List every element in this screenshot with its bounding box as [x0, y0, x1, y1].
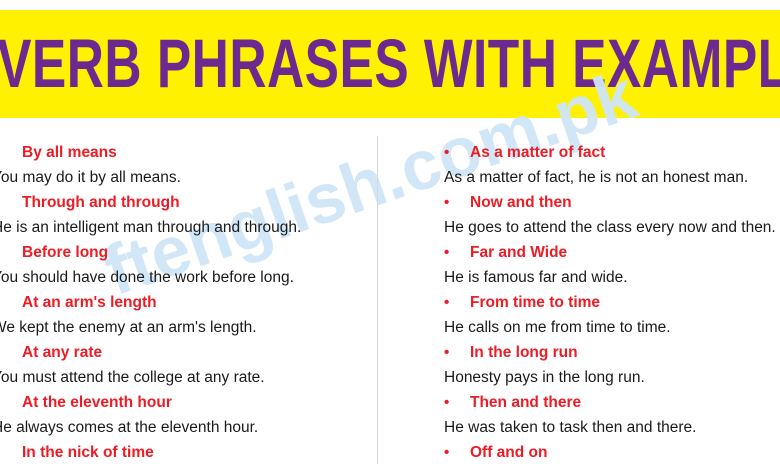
bullet-icon: •	[444, 390, 470, 415]
phrase-label: As a matter of fact	[470, 140, 605, 165]
right-column-spacer	[444, 118, 780, 140]
bullet-icon: •	[444, 440, 470, 465]
phrase-label: Far and Wide	[470, 240, 567, 265]
phrase-heading: •From time to time	[444, 290, 780, 315]
phrase-label: In the long run	[470, 340, 578, 365]
phrase-entry: In the nick of timeHe came in the nick o…	[0, 440, 372, 470]
phrase-label: Off and on	[470, 440, 548, 465]
phrase-heading: •As a matter of fact	[444, 140, 780, 165]
phrase-heading: •Off and on	[444, 440, 780, 465]
phrase-heading: At the eleventh hour	[0, 390, 372, 415]
example-sentence: You should have done the work before lon…	[0, 265, 372, 290]
example-sentence: You may do it by all means.	[0, 165, 372, 190]
phrase-label: Before long	[22, 240, 108, 265]
phrase-label: Then and there	[470, 390, 581, 415]
phrase-heading: •Now and then	[444, 190, 780, 215]
phrase-entry: •As a matter of factAs a matter of fact,…	[444, 140, 780, 190]
phrase-label: By all means	[22, 140, 117, 165]
bullet-icon: •	[444, 240, 470, 265]
example-sentence: We kept the enemy at an arm's length.	[0, 315, 372, 340]
phrase-entry: •Far and WideHe is famous far and wide.	[444, 240, 780, 290]
phrase-entry: At any rateYou must attend the college a…	[0, 340, 372, 390]
example-sentence: As a matter of fact, he is not an honest…	[444, 165, 780, 190]
phrase-label: In the nick of time	[22, 440, 154, 465]
phrase-label: At any rate	[22, 340, 102, 365]
phrase-heading: At any rate	[0, 340, 372, 365]
left-column: By all meansYou may do it by all means.T…	[0, 118, 372, 470]
phrase-heading: •Then and there	[444, 390, 780, 415]
example-sentence: He always comes at the eleventh hour.	[0, 415, 372, 440]
bullet-icon: •	[444, 290, 470, 315]
example-sentence: You must attend the college at any rate.	[0, 365, 372, 390]
phrase-entry: Before longYou should have done the work…	[0, 240, 372, 290]
phrase-entry: •From time to timeHe calls on me from ti…	[444, 290, 780, 340]
right-column: •As a matter of factAs a matter of fact,…	[444, 118, 780, 470]
example-sentence: He is famous far and wide.	[444, 265, 780, 290]
page-title: ADVERB PHRASES WITH EXAMPLES	[0, 29, 780, 100]
example-sentence: He came in the nick of time.	[0, 465, 372, 470]
phrase-heading: By all means	[0, 140, 372, 165]
phrase-entry: •Now and thenHe goes to attend the class…	[444, 190, 780, 240]
phrase-heading: Through and through	[0, 190, 372, 215]
phrase-entry: By all meansYou may do it by all means.	[0, 140, 372, 190]
phrase-label: At the eleventh hour	[22, 390, 172, 415]
bullet-icon: •	[444, 190, 470, 215]
left-column-spacer	[0, 118, 372, 140]
phrase-heading: Before long	[0, 240, 372, 265]
phrase-entry: •Then and thereHe was taken to task then…	[444, 390, 780, 440]
column-divider	[377, 136, 378, 464]
phrase-heading: •Far and Wide	[444, 240, 780, 265]
phrase-label: Now and then	[470, 190, 572, 215]
content-columns: By all meansYou may do it by all means.T…	[0, 118, 780, 470]
phrase-label: Through and through	[22, 190, 180, 215]
phrase-heading: •In the long run	[444, 340, 780, 365]
phrase-heading: At an arm's length	[0, 290, 372, 315]
phrase-entry: At an arm's lengthWe kept the enemy at a…	[0, 290, 372, 340]
phrase-heading: In the nick of time	[0, 440, 372, 465]
phrase-entry: At the eleventh hourHe always comes at t…	[0, 390, 372, 440]
title-banner: ADVERB PHRASES WITH EXAMPLES	[0, 10, 780, 118]
example-sentence: Honesty pays in the long run.	[444, 365, 780, 390]
example-sentence: He calls on me from time to time.	[444, 315, 780, 340]
phrase-label: From time to time	[470, 290, 600, 315]
bullet-icon: •	[444, 340, 470, 365]
infographic-page: ADVERB PHRASES WITH EXAMPLES ftenglish.c…	[0, 0, 780, 470]
example-sentence: He was taken to task then and there.	[444, 415, 780, 440]
phrase-label: At an arm's length	[22, 290, 157, 315]
example-sentence: He goes to attend the class every now an…	[444, 215, 780, 240]
bullet-icon: •	[444, 140, 470, 165]
phrase-entry: •In the long runHonesty pays in the long…	[444, 340, 780, 390]
phrase-entry: •Off and onShe comes here off and on.	[444, 440, 780, 470]
example-sentence: He is an intelligent man through and thr…	[0, 215, 372, 240]
phrase-entry: Through and throughHe is an intelligent …	[0, 190, 372, 240]
example-sentence: She comes here off and on.	[444, 465, 780, 470]
